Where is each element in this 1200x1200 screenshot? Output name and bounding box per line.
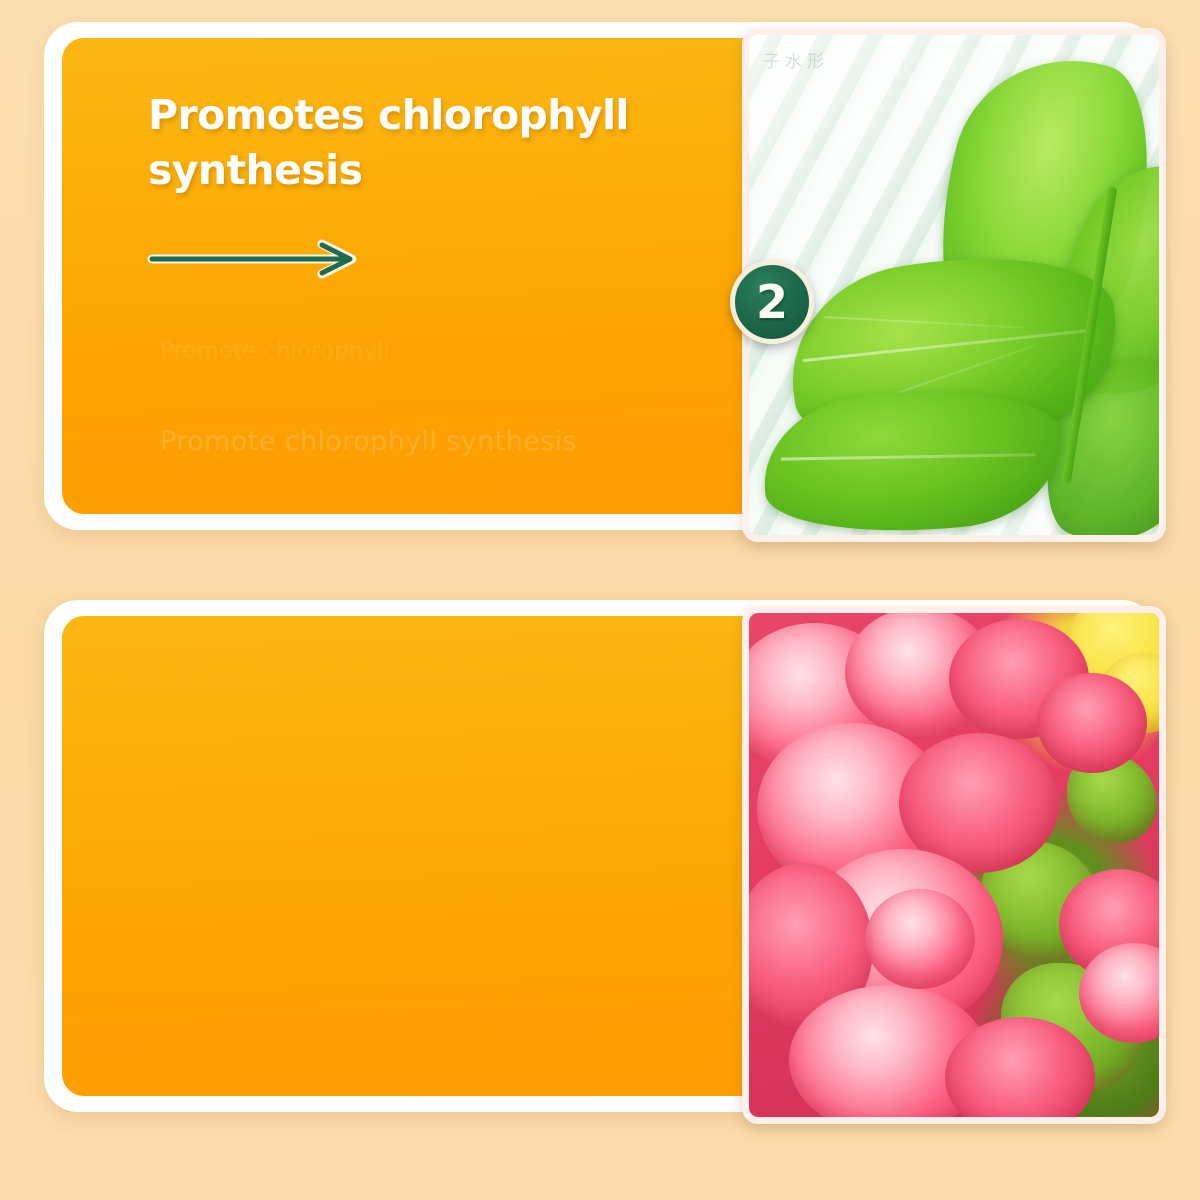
benefit-headline-line-1: Promotes chlorophyll bbox=[148, 91, 629, 139]
benefit-card-step-3[interactable]: Promote flower bud Promote flower bud di… bbox=[44, 600, 1156, 1112]
benefit-card-step-2[interactable]: Promote chlorophyll Promote chlorophyll … bbox=[44, 22, 1156, 530]
benefit-headline-line-2: synthesis bbox=[148, 146, 362, 194]
benefit-headline: Promotes chlorophyll synthesis bbox=[148, 88, 708, 197]
image-watermark: 子水形 bbox=[763, 47, 829, 72]
benefit-image-flowers bbox=[742, 606, 1166, 1124]
petal-center bbox=[865, 889, 975, 989]
ghost-subtext-faint: Promote chlorophyll bbox=[160, 338, 390, 364]
product-benefits-page: Promote chlorophyll Promote chlorophyll … bbox=[0, 0, 1200, 1200]
step-badge-2: 2 bbox=[730, 260, 814, 344]
arrow-right-icon bbox=[146, 237, 378, 281]
petal bbox=[1037, 673, 1147, 773]
step-badge-number: 2 bbox=[756, 275, 788, 329]
ghost-subtext: Promote chlorophyll synthesis bbox=[160, 426, 577, 457]
benefit-card-text-panel: Promote flower bud Promote flower bud di… bbox=[62, 616, 754, 1096]
